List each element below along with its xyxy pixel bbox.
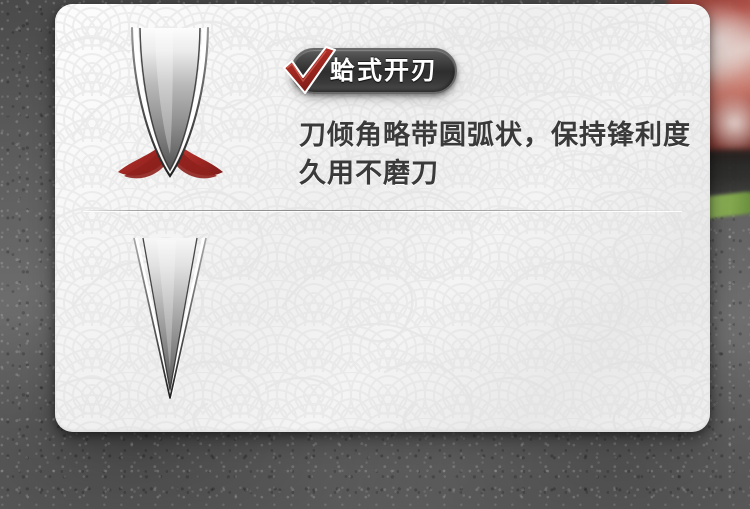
section-ordinary: X 普通开刃 初期锋利，久用后易被磨损 易钝常磨刀 <box>55 212 710 432</box>
description-hamaguri-line-2: 久用不磨刀 <box>299 154 691 192</box>
screenshot-stage: 蛤式开刃 刀倾角略带圆弧状，保持锋利度 久用不磨刀 <box>0 0 750 509</box>
description-hamaguri: 刀倾角略带圆弧状，保持锋利度 久用不磨刀 <box>299 116 691 192</box>
curved-convex-blade-icon <box>110 20 230 200</box>
badge-hamaguri[interactable]: 蛤式开刃 <box>291 48 457 94</box>
description-hamaguri-line-1: 刀倾角略带圆弧状，保持锋利度 <box>299 116 691 154</box>
comparison-card: 蛤式开刃 刀倾角略带圆弧状，保持锋利度 久用不磨刀 <box>55 4 710 432</box>
straight-v-blade-icon <box>110 230 230 410</box>
badge-hamaguri-label: 蛤式开刃 <box>310 59 438 84</box>
section-divider <box>83 210 682 211</box>
section-hamaguri: 蛤式开刃 刀倾角略带圆弧状，保持锋利度 久用不磨刀 <box>55 4 710 210</box>
